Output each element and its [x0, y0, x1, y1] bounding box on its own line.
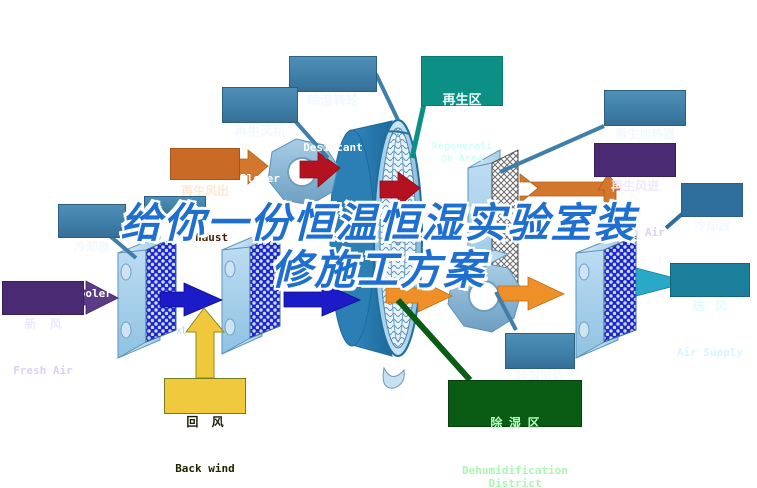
label-regeneration-fresh-air-in-en: Fresh Air [595, 227, 675, 239]
label-fresh-air-in[interactable]: 新 风 Fresh Air [2, 281, 84, 315]
label-cooler-left[interactable]: 冷却器 Cooler [58, 204, 126, 238]
label-desiccant-wheel[interactable]: 除湿转轮 Desiccant [289, 56, 377, 92]
watermark-text: xt [176, 323, 186, 337]
label-air-supply[interactable]: 送 风 Air Supply [670, 263, 750, 297]
label-dehumidification-district-en: Dehumidification District [449, 464, 581, 488]
label-regeneration-area-cn: 再生区 [422, 93, 502, 107]
label-cooler-right[interactable]: 冷却器 Cooler [681, 183, 743, 217]
back-wind-arrow [186, 308, 224, 378]
label-back-wind-cn: 回 风 [165, 416, 245, 429]
label-regeneration-exhaust[interactable]: 再生风出 Exhaust [170, 148, 240, 180]
label-regeneration-area[interactable]: 再生区 Regenerati on Area [421, 56, 503, 106]
label-dehumidification-district-cn: 除 湿 区 [449, 417, 581, 430]
label-cooler-mid-cn: 冷却器 [145, 234, 205, 246]
label-desiccant-wheel-cn: 除湿转轮 [290, 94, 376, 108]
label-dehumidification-district[interactable]: 除 湿 区 Dehumidification District [448, 380, 582, 427]
diagram-canvas: xt 除湿转轮 Desiccant 再生风机 Blower 再生区 Regene… [0, 0, 757, 488]
label-cooler-left-cn: 冷却器 [59, 241, 125, 254]
regen-air-arrow [520, 174, 604, 203]
label-regeneration-blower[interactable]: 再生风机 Blower [222, 87, 298, 123]
label-fresh-air-in-cn: 新 风 [3, 318, 83, 331]
label-dehumidification-blower[interactable]: 除湿风机 Blower [505, 333, 575, 369]
label-regeneration-fresh-air-in[interactable]: 再生风进 Fresh Air [594, 143, 676, 177]
label-back-wind[interactable]: 回 风 Back wind [164, 378, 246, 414]
label-regeneration-area-en: Regenerati on Area [422, 141, 502, 165]
label-air-supply-en: Air Supply [671, 347, 749, 359]
label-regeneration-heater[interactable]: 再生加热器 heater [604, 90, 686, 126]
label-cooler-mid[interactable]: 冷却器 [144, 196, 206, 218]
label-regeneration-blower-cn: 再生风机 [223, 125, 297, 139]
label-regeneration-fresh-air-in-cn: 再生风进 [595, 180, 675, 193]
label-air-supply-cn: 送 风 [671, 300, 749, 313]
label-regeneration-heater-cn: 再生加热器 [605, 128, 685, 141]
label-desiccant-wheel-en: Desiccant [290, 142, 376, 154]
label-cooler-right-cn: 冷却器 [682, 220, 742, 233]
label-back-wind-en: Back wind [165, 463, 245, 475]
label-fresh-air-in-en: Fresh Air [3, 365, 83, 377]
